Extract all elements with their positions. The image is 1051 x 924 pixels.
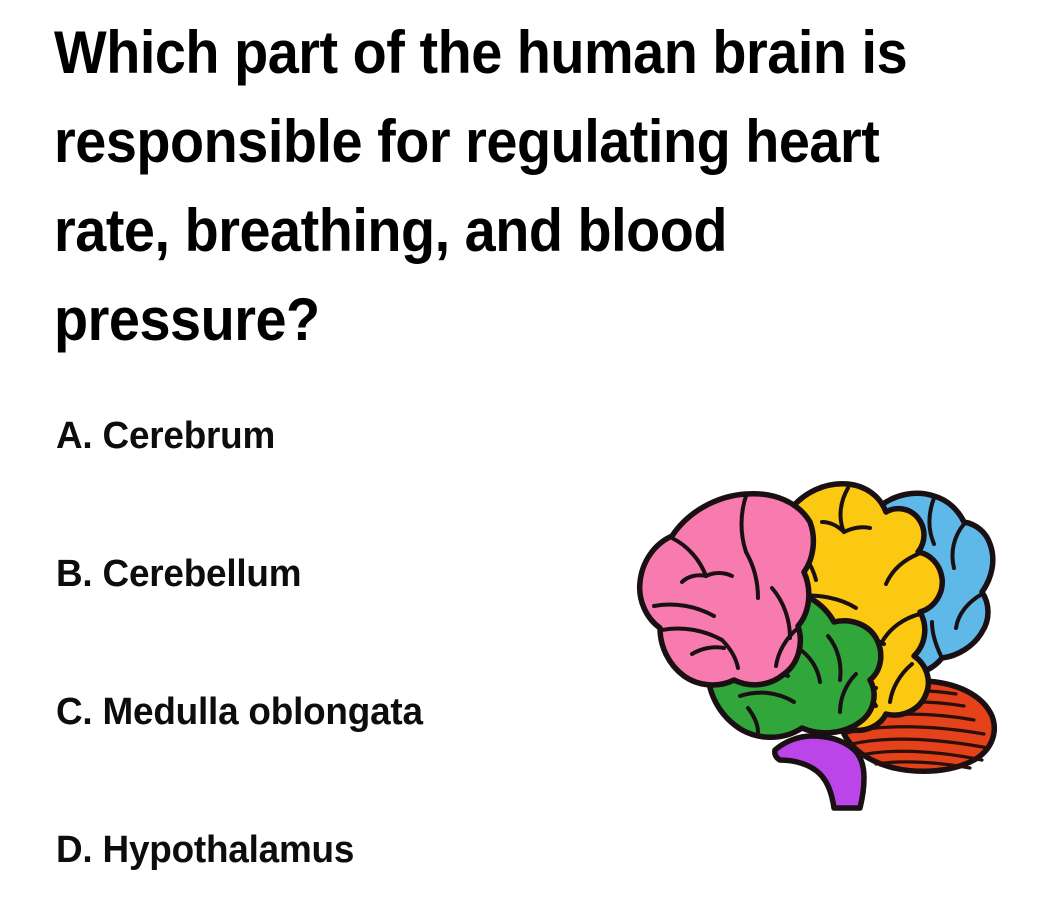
option-d[interactable]: D. Hypothalamus: [56, 826, 599, 874]
brain-diagram-svg: [612, 468, 1024, 813]
region-frontal-lobe: [640, 494, 814, 685]
option-b[interactable]: B. Cerebellum: [56, 550, 599, 688]
answer-options-list: A. Cerebrum B. Cerebellum C. Medulla obl…: [56, 412, 616, 874]
option-a[interactable]: A. Cerebrum: [56, 412, 599, 550]
question-text: Which part of the human brain is respons…: [54, 8, 947, 364]
option-c[interactable]: C. Medulla oblongata: [56, 688, 599, 826]
quiz-slide: Which part of the human brain is respons…: [0, 0, 1051, 924]
brain-illustration: [612, 468, 1024, 813]
